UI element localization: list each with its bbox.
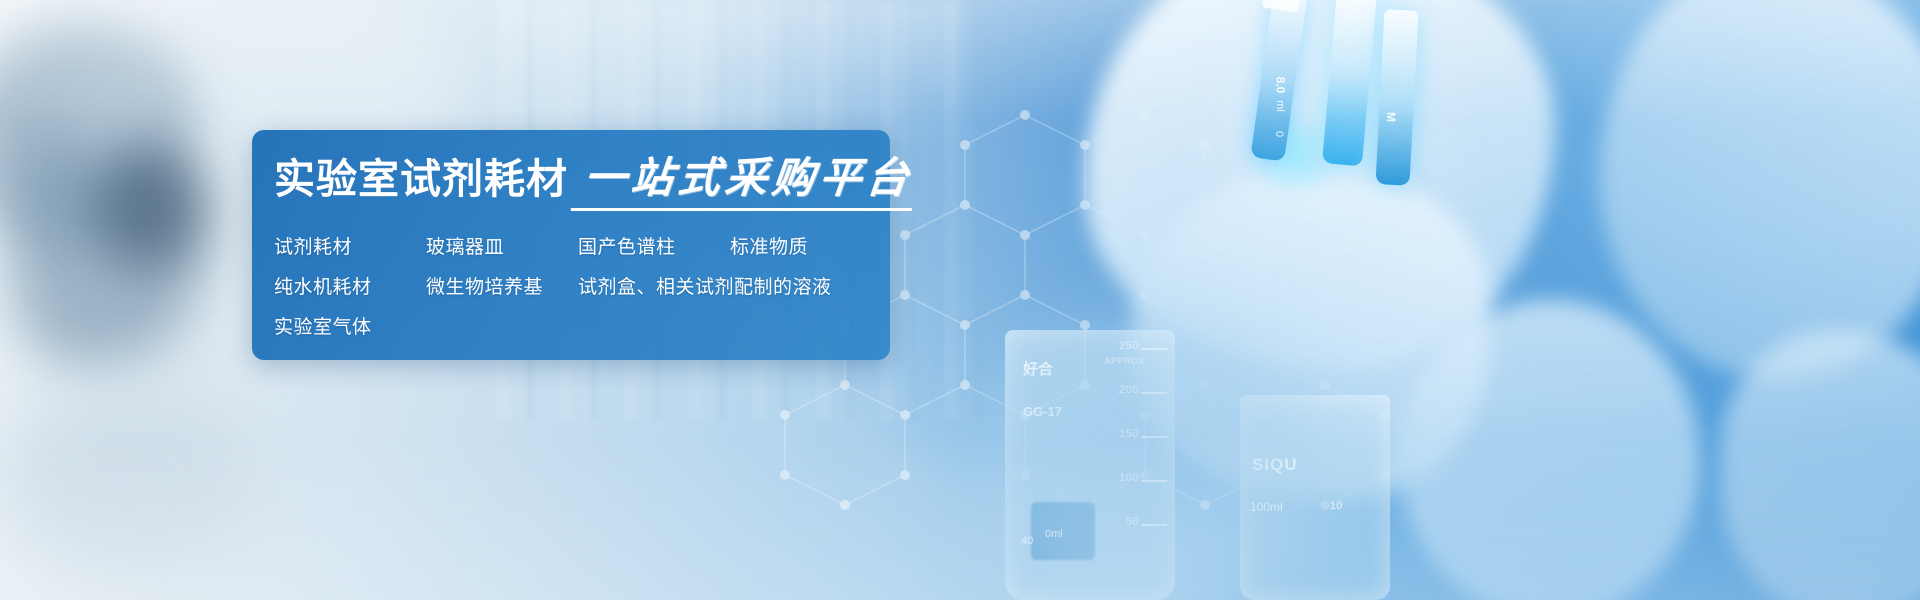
category-link-water-purifier-consumables[interactable]: 纯水机耗材 xyxy=(274,274,426,302)
microscope-blur xyxy=(95,150,205,270)
headline-main: 实验室试剂耗材 xyxy=(274,159,568,200)
category-row: 试剂耗材 玻璃器皿 国产色谱柱 标准物质 xyxy=(274,234,874,262)
tube-zero-label: 0 xyxy=(1273,131,1285,137)
bottom-veil xyxy=(0,440,1920,600)
category-link-reference-materials[interactable]: 标准物质 xyxy=(730,234,808,262)
category-list: 试剂耗材 玻璃器皿 国产色谱柱 标准物质 纯水机耗材 微生物培养基 试剂盒、相关… xyxy=(274,234,874,354)
category-link-laboratory-gases[interactable]: 实验室气体 xyxy=(274,314,426,342)
category-link-glassware[interactable]: 玻璃器皿 xyxy=(426,234,578,262)
headline: 实验室试剂耗材 一站式采购平台 xyxy=(274,158,913,200)
category-link-reagent-kits-solutions[interactable]: 试剂盒、相关试剂配制的溶液 xyxy=(578,274,832,302)
category-link-reagent-consumables[interactable]: 试剂耗材 xyxy=(274,234,426,262)
promo-panel: 实验室试剂耗材 一站式采购平台 试剂耗材 玻璃器皿 国产色谱柱 标准物质 纯水机… xyxy=(252,130,890,360)
category-link-domestic-chromatography-column[interactable]: 国产色谱柱 xyxy=(578,234,730,262)
top-veil xyxy=(0,0,1920,120)
category-row: 纯水机耗材 微生物培养基 试剂盒、相关试剂配制的溶液 xyxy=(274,274,874,302)
headline-calligraphy: 一站式采购平台 xyxy=(582,158,915,200)
category-link-microbial-culture-media[interactable]: 微生物培养基 xyxy=(426,274,578,302)
category-row: 实验室气体 xyxy=(274,314,874,342)
banner-root: 8.0 ml 0 M 250 APPROX 200 150 100 50 好合 … xyxy=(0,0,1920,600)
